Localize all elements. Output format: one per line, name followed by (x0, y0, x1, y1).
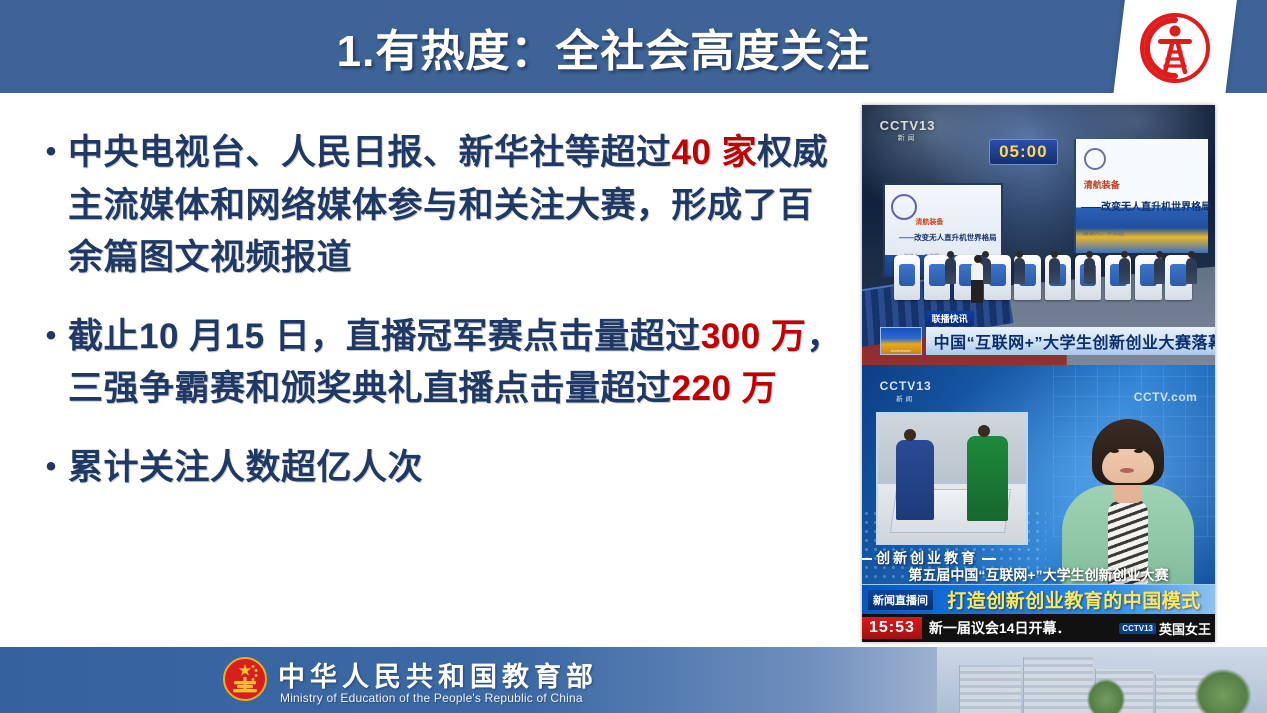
judge-figure (945, 258, 956, 284)
cctv13-competition-stage-photo: 清航装备 ——改变无人直升机世界格局 演讲人：李洪超 清航装备 ——改变无人直升… (862, 105, 1215, 365)
cctv13-ticker-logo-icon: CCTV13 (1119, 623, 1156, 634)
news-headline: 打造创新创业教育的中国模式 (933, 586, 1215, 613)
ministry-name-cn: 中华人民共和国教育部 (278, 655, 598, 694)
bullet-segment: 截止10 月15 日，直播冠军赛点击量超过 (68, 317, 701, 356)
screen-title: 清航装备 (1084, 178, 1120, 191)
bullet-highlight: 300 万 (701, 317, 807, 356)
judge-figure (1119, 258, 1130, 284)
bullet-marker: • (34, 127, 68, 177)
university-seal-icon (891, 194, 917, 220)
page-title: 1.有热度：全社会高度关注 (0, 0, 1267, 93)
judge-figure (1014, 258, 1025, 284)
ticker-text: 新一届议会14日开幕． (922, 618, 1119, 638)
list-item: • 中央电视台、人民日报、新华社等超过40 家权威主流媒体和网络媒体参与和关注大… (34, 127, 842, 285)
ticker-clock: 15:53 (862, 617, 922, 639)
cctv-channel-bug: CCTV13 新闻 (880, 379, 932, 403)
tree-shape (1087, 679, 1125, 713)
podium (894, 255, 920, 300)
building-block (1023, 657, 1093, 713)
caption-kicker: 联播快讯 (926, 311, 974, 326)
xinwenlianbo-logo-icon: xinwenlianbo (880, 327, 922, 355)
cctv-mark-text: CCTV (880, 379, 917, 393)
bullet-segment: 中央电视台、人民日报、新华社等超过 (68, 133, 672, 172)
caption-text-block: 联播快讯 中国“互联网+”大学生创新创业大赛落幕 (926, 309, 1215, 355)
cctv-watermark: CCTV.com (1134, 390, 1198, 404)
tree-shape (1195, 669, 1251, 713)
list-item: • 累计关注人数超亿人次 (34, 442, 842, 495)
news-caption-bar: xinwenlianbo 联播快讯 中国“互联网+”大学生创新创业大赛落幕 (880, 309, 1215, 355)
ticker-right-block: CCTV13 英国女王 (1119, 619, 1215, 638)
ministry-name-en: Ministry of Education of the People's Re… (280, 691, 583, 705)
bullet-marker: • (34, 442, 68, 492)
list-item: • 截止10 月15 日，直播冠军赛点击量超过300 万，三强争霸赛和颁奖典礼直… (34, 311, 842, 416)
inset-classroom-photo (876, 412, 1028, 545)
cctv-channel-bug: CCTV13 新闻 (880, 118, 936, 143)
slide-header: 1.有热度：全社会高度关注 (0, 0, 1267, 93)
judge-figure (1154, 258, 1165, 284)
cctv13-news-anchor-photo: CCTV13 新闻 CCTV.com 创新创业教育 第五届中国“互联网+” (862, 365, 1215, 642)
cctv-channel-sub: 新闻 (880, 393, 932, 403)
student-figure-blue (896, 440, 934, 520)
cctv-channel-number: 13 (916, 379, 931, 393)
slide-footer: 中华人民共和国教育部 Ministry of Education of the … (0, 647, 1267, 713)
building-block (959, 665, 1021, 713)
screen-title: 清航装备 (915, 217, 943, 227)
ticker-right-text: 英国女王 (1159, 619, 1211, 638)
countdown-timer: 05:00 (989, 139, 1057, 165)
cctv-channel-number: 13 (919, 118, 935, 133)
photo-stack: 清航装备 ——改变无人直升机世界格局 演讲人：李洪超 清航装备 ——改变无人直升… (862, 105, 1215, 642)
bullet-total-audience: 累计关注人数超亿人次 (68, 442, 842, 495)
ministry-building-photo (937, 647, 1267, 713)
slide-body: • 中央电视台、人民日报、新华社等超过40 家权威主流媒体和网络媒体参与和关注大… (0, 93, 860, 643)
news-ticker-bar: 15:53 新一届议会14日开幕． CCTV13 英国女王 (862, 614, 1215, 642)
student-figure-green (967, 436, 1008, 521)
judge-figure (1084, 258, 1095, 284)
presentation-slide: 1.有热度：全社会高度关注 • 中央电视台、人民日报、新华社等超过40 家权威主… (0, 0, 1267, 713)
anchor-hair (1092, 419, 1164, 485)
cctv-channel-sub: 新闻 (880, 133, 936, 143)
stage-right-screen: 清航装备 ——改变无人直升机世界格局 演讲人：李洪超 (1074, 139, 1208, 253)
judge-figure (1186, 258, 1197, 284)
screen-presenter: 演讲人：李洪超 (1082, 228, 1124, 237)
screen-subtitle: ——改变无人直升机世界格局 (1081, 198, 1211, 213)
news-headline-bar: 新闻直播间 打造创新创业教育的中国模式 (862, 584, 1215, 614)
bullet-segment: 累计关注人数超亿人次 (68, 448, 423, 487)
national-emblem-icon (222, 656, 268, 702)
cctv-mark-text: CCTV (880, 118, 919, 133)
bullet-highlight: 40 家 (672, 133, 758, 172)
bullet-livestream-views: 截止10 月15 日，直播冠军赛点击量超过300 万，三强争霸赛和颁奖典礼直播点… (68, 311, 842, 416)
judge-podium-row (894, 243, 1212, 300)
bullet-highlight: 220 万 (672, 369, 778, 408)
bullet-marker: • (34, 311, 68, 361)
competition-emblem-icon (1135, 8, 1215, 88)
judge-figure (1049, 258, 1060, 284)
presenter-figure (971, 263, 983, 303)
news-subtitle: 第五届中国“互联网+”大学生创新创业大赛 (862, 565, 1215, 585)
caption-headline: 中国“互联网+”大学生创新创业大赛落幕 (926, 327, 1215, 355)
university-seal-icon (1084, 148, 1106, 170)
screen-subtitle: ——改变无人直升机世界格局 (899, 232, 997, 243)
bullet-media-coverage: 中央电视台、人民日报、新华社等超过40 家权威主流媒体和网络媒体参与和关注大赛，… (68, 127, 842, 285)
news-channel-tag: 新闻直播间 (868, 590, 933, 610)
caption-logo-sub: xinwenlianbo (881, 349, 921, 353)
